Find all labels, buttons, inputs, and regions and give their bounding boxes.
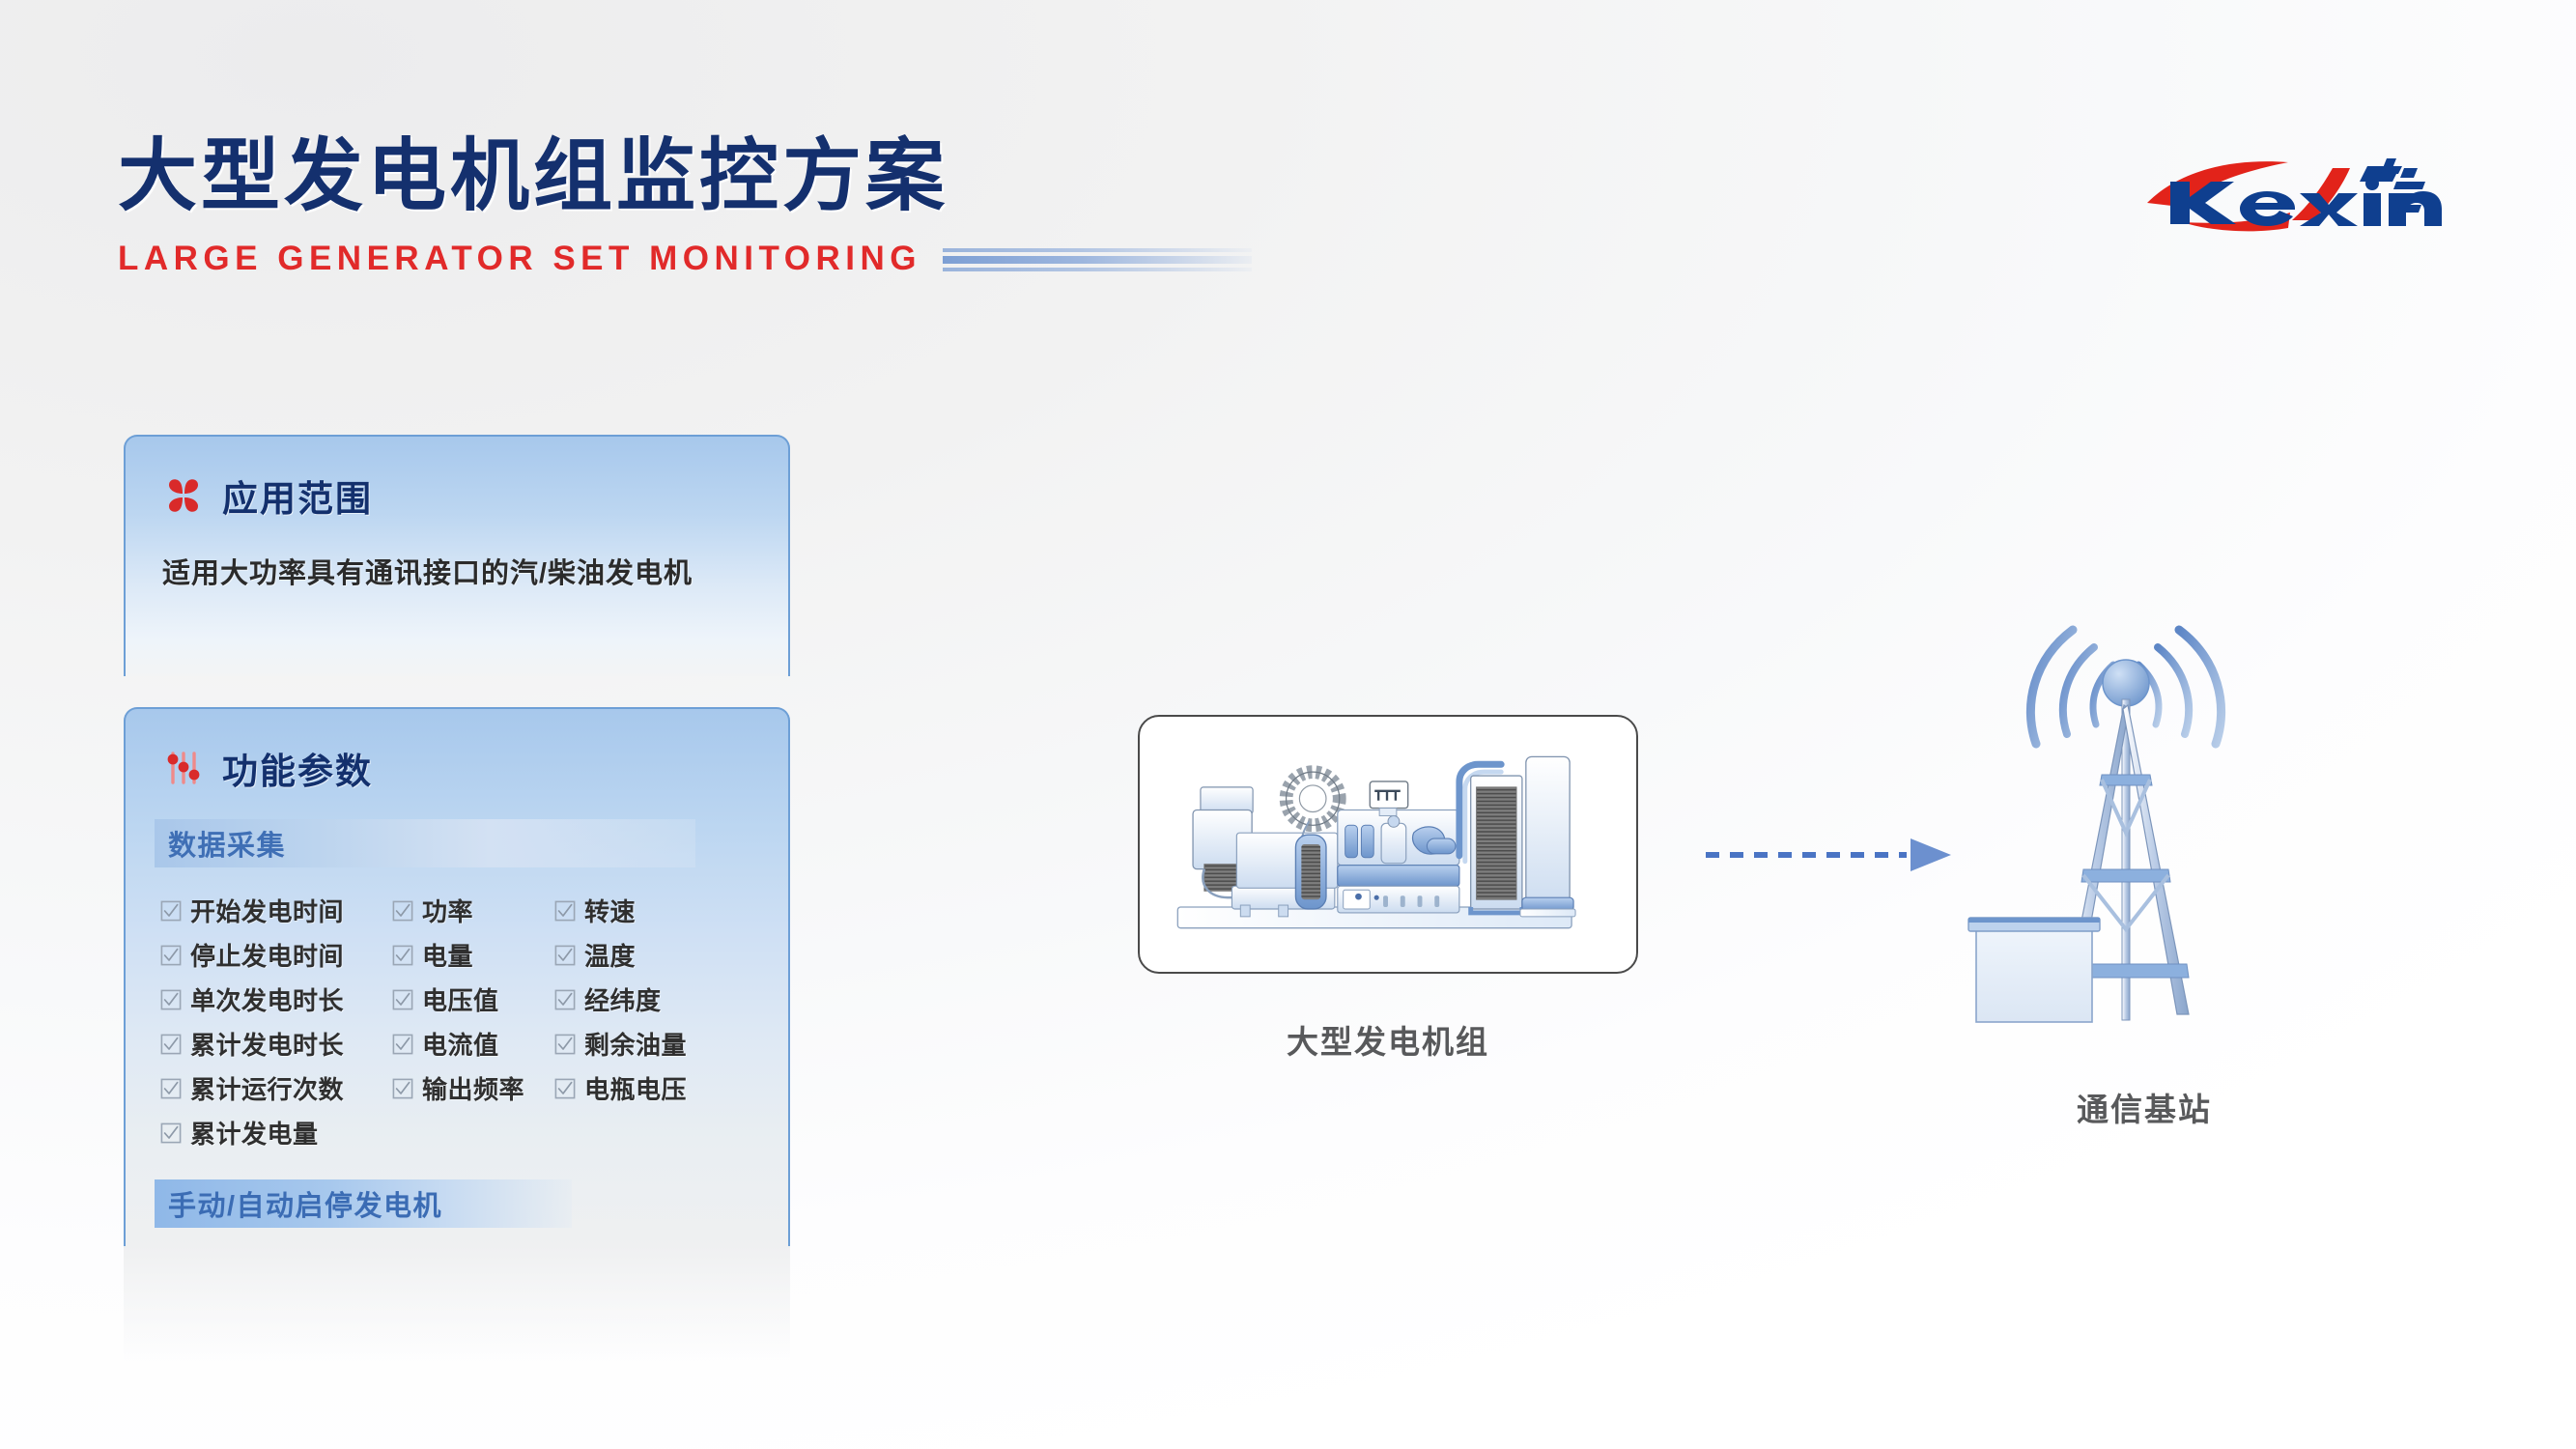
parameter-checklist: 开始发电时间功率转速停止发电时间电量温度单次发电时长电压值经纬度累计发电时长电流… xyxy=(160,893,788,1151)
generator-caption: 大型发电机组 xyxy=(1138,1016,1638,1063)
subtitle-decoration-lines xyxy=(943,246,1252,271)
data-collection-label: 数据采集 xyxy=(168,823,286,864)
checkbox-checked-icon xyxy=(160,1078,182,1099)
manual-auto-start-stop-label: 手动/自动启停发电机 xyxy=(168,1183,442,1224)
checkbox-checked-icon xyxy=(392,1034,413,1055)
checklist-item-label: 温度 xyxy=(584,937,636,973)
scope-card-title: 应用范围 xyxy=(222,469,373,522)
checkbox-checked-icon xyxy=(554,1034,576,1055)
checkbox-checked-icon xyxy=(392,900,413,922)
checkbox-checked-icon xyxy=(160,945,182,966)
page-title: 大型发电机组监控方案 xyxy=(118,135,1373,218)
checkbox-checked-icon xyxy=(160,989,182,1010)
page-subtitle: LARGE GENERATOR SET MONITORING xyxy=(118,240,921,278)
checklist-item-label: 功率 xyxy=(422,893,473,928)
function-card-title: 功能参数 xyxy=(222,742,373,794)
kexin-logo xyxy=(2143,153,2462,241)
checklist-item[interactable]: 累计运行次数 xyxy=(160,1070,392,1106)
checklist-item[interactable]: 转速 xyxy=(554,893,788,928)
dashed-right-arrow-icon xyxy=(1702,833,1957,877)
checklist-item-label: 输出频率 xyxy=(422,1070,524,1106)
checkbox-checked-icon xyxy=(392,1078,413,1099)
checklist-item[interactable]: 电流值 xyxy=(392,1026,554,1062)
checklist-item-label: 停止发电时间 xyxy=(190,937,344,973)
tower-caption: 通信基站 xyxy=(1893,1084,2395,1130)
subtitle-row: LARGE GENERATOR SET MONITORING xyxy=(118,240,1373,278)
checklist-item-label: 累计发电时长 xyxy=(190,1026,344,1062)
slide-root: 大型发电机组监控方案 LARGE GENERATOR SET MONITORIN… xyxy=(0,0,2576,1449)
checkbox-checked-icon xyxy=(160,1122,182,1144)
checklist-item[interactable]: 电压值 xyxy=(392,981,554,1017)
checkbox-checked-icon xyxy=(554,1078,576,1099)
checklist-item-label: 累计运行次数 xyxy=(190,1070,344,1106)
checklist-item[interactable]: 经纬度 xyxy=(554,981,788,1017)
checklist-item[interactable]: 输出频率 xyxy=(392,1070,554,1106)
checklist-item-label: 电瓶电压 xyxy=(584,1070,687,1106)
diesel-generator-set-icon xyxy=(1140,717,1636,972)
checklist-item-label: 电量 xyxy=(422,937,473,973)
checklist-item[interactable]: 功率 xyxy=(392,893,554,928)
function-card-header: 功能参数 xyxy=(126,709,788,794)
function-card: 功能参数 数据采集 开始发电时间功率转速停止发电时间电量温度单次发电时长电压值经… xyxy=(124,707,790,1248)
checkbox-checked-icon xyxy=(392,945,413,966)
header: 大型发电机组监控方案 LARGE GENERATOR SET MONITORIN… xyxy=(118,135,1373,278)
checkbox-checked-icon xyxy=(392,989,413,1010)
checklist-item-label: 转速 xyxy=(584,893,636,928)
four-petal-flower-icon xyxy=(162,474,205,517)
manual-auto-start-stop-bar[interactable]: 手动/自动启停发电机 xyxy=(155,1179,572,1228)
checklist-item-label: 经纬度 xyxy=(584,981,662,1017)
data-collection-section-bar: 数据采集 xyxy=(155,819,695,867)
checklist-item[interactable]: 电瓶电压 xyxy=(554,1070,788,1106)
checkbox-checked-icon xyxy=(554,900,576,922)
checklist-item-label: 剩余油量 xyxy=(584,1026,687,1062)
checkbox-checked-icon xyxy=(554,989,576,1010)
cell-tower-icon xyxy=(1959,591,2335,1055)
checkbox-checked-icon xyxy=(160,1034,182,1055)
checklist-item[interactable]: 累计发电量 xyxy=(160,1115,392,1151)
checklist-item-label: 电流值 xyxy=(422,1026,499,1062)
checkbox-checked-icon xyxy=(160,900,182,922)
checklist-item[interactable]: 停止发电时间 xyxy=(160,937,392,973)
checklist-item[interactable]: 累计发电时长 xyxy=(160,1026,392,1062)
scope-card-text: 适用大功率具有通讯接口的汽/柴油发电机 xyxy=(162,551,788,591)
checklist-item-label: 单次发电时长 xyxy=(190,981,344,1017)
checklist-item[interactable]: 开始发电时间 xyxy=(160,893,392,928)
checklist-item-label: 累计发电量 xyxy=(190,1115,319,1151)
scope-card: 应用范围 适用大功率具有通讯接口的汽/柴油发电机 xyxy=(124,435,790,676)
checklist-item[interactable]: 单次发电时长 xyxy=(160,981,392,1017)
scope-card-header: 应用范围 xyxy=(126,437,788,522)
checklist-item[interactable]: 剩余油量 xyxy=(554,1026,788,1062)
sliders-icon xyxy=(162,747,205,789)
checklist-item[interactable]: 温度 xyxy=(554,937,788,973)
checkbox-checked-icon xyxy=(554,945,576,966)
generator-image-card xyxy=(1138,715,1638,974)
checklist-item[interactable]: 电量 xyxy=(392,937,554,973)
checklist-item-label: 电压值 xyxy=(422,981,499,1017)
checklist-item-label: 开始发电时间 xyxy=(190,893,344,928)
